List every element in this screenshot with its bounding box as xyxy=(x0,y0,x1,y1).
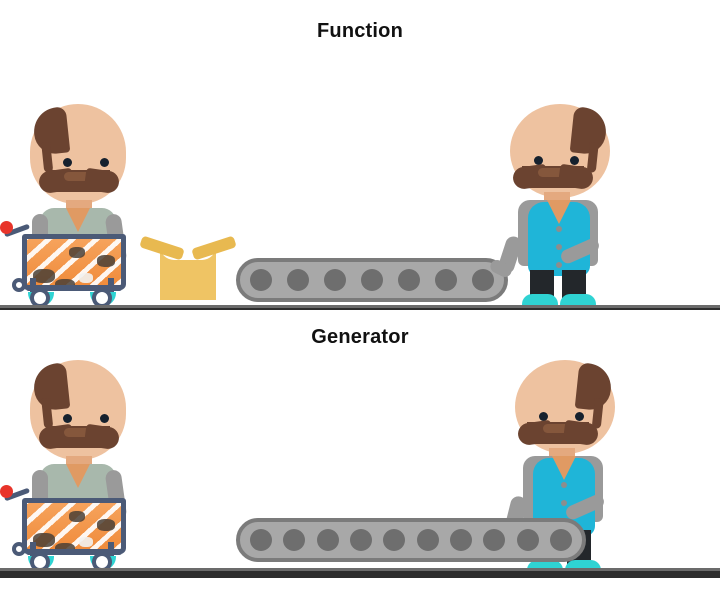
ground-line-function xyxy=(0,305,720,310)
cart-item xyxy=(97,519,115,531)
cart-item xyxy=(33,269,55,283)
conveyor-roller xyxy=(550,529,572,551)
panel-function: Function xyxy=(0,0,720,310)
vest-button xyxy=(556,262,562,268)
mustache-icon xyxy=(48,426,110,448)
vest-button xyxy=(556,226,562,232)
cart-item xyxy=(79,537,93,547)
conveyor-roller xyxy=(472,269,494,291)
cart-caster xyxy=(12,278,26,292)
head xyxy=(510,104,610,198)
conveyor-roller xyxy=(250,269,272,291)
panel-title-generator: Generator xyxy=(0,326,720,349)
conveyor-roller xyxy=(483,529,505,551)
illustration-stage: Function xyxy=(0,0,720,600)
vest-button xyxy=(561,500,567,506)
shopping-cart xyxy=(4,220,154,306)
eye-right xyxy=(575,412,584,421)
eye-left xyxy=(63,414,72,423)
worker-right-function xyxy=(500,104,620,309)
conveyor-roller xyxy=(435,269,457,291)
conveyor-belt-generator xyxy=(236,518,586,562)
eye-left xyxy=(63,158,72,167)
mustache-icon xyxy=(48,170,110,192)
worker-left-function xyxy=(16,104,146,304)
conveyor-roller xyxy=(417,529,439,551)
cardboard-box xyxy=(148,232,228,304)
collar xyxy=(552,456,576,480)
worker-left-generator xyxy=(16,360,146,560)
mustache-icon xyxy=(527,422,589,444)
collar xyxy=(547,200,571,224)
vest-button xyxy=(556,244,562,250)
hair-patch-icon xyxy=(575,362,614,411)
cart-caster xyxy=(12,542,26,556)
mustache-highlight xyxy=(64,172,92,181)
head xyxy=(30,104,126,204)
cart-item xyxy=(69,247,85,258)
cart-handle-knob xyxy=(0,221,13,234)
cart-item xyxy=(97,255,115,267)
panel-generator: Generator xyxy=(0,312,720,600)
cart-item xyxy=(33,533,55,547)
mustache-highlight xyxy=(543,424,571,433)
conveyor-roller xyxy=(517,529,539,551)
head xyxy=(30,360,126,460)
cart-handle-knob xyxy=(0,485,13,498)
eye-right xyxy=(100,158,109,167)
panel-title-function: Function xyxy=(0,20,720,43)
conveyor-roller xyxy=(317,529,339,551)
conveyor-roller xyxy=(283,529,305,551)
conveyor-roller xyxy=(450,529,472,551)
shopping-cart xyxy=(4,484,154,570)
vest-button xyxy=(561,482,567,488)
conveyor-roller xyxy=(250,529,272,551)
conveyor-belt-function xyxy=(236,258,508,302)
eye-right xyxy=(570,156,579,165)
conveyor-roller xyxy=(361,269,383,291)
conveyor-roller xyxy=(398,269,420,291)
hair-patch-icon xyxy=(32,106,71,155)
eye-right xyxy=(100,414,109,423)
cart-item xyxy=(79,273,93,283)
mustache-highlight xyxy=(64,428,92,437)
hair-patch-icon xyxy=(570,106,609,155)
conveyor-roller xyxy=(383,529,405,551)
conveyor-roller xyxy=(324,269,346,291)
hair-patch-icon xyxy=(32,362,71,411)
head xyxy=(515,360,615,454)
mustache-highlight xyxy=(538,168,566,177)
mustache-icon xyxy=(522,166,584,188)
conveyor-roller xyxy=(350,529,372,551)
conveyor-roller xyxy=(287,269,309,291)
ground-line-generator xyxy=(0,568,720,578)
cart-item xyxy=(69,511,85,522)
